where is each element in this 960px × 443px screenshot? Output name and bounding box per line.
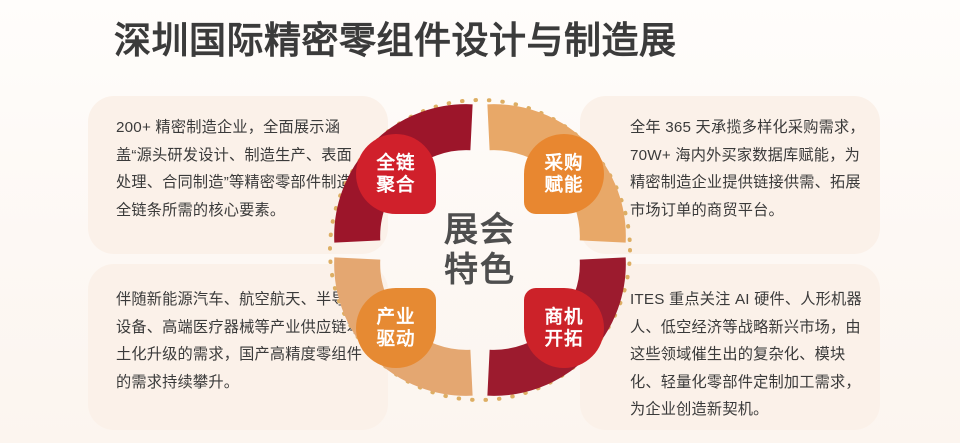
wheel-badge-business-opportunity[interactable]: 商机 开拓: [524, 288, 604, 368]
wheel-badge-procurement-line-1: 采购: [544, 152, 583, 174]
page-title: 深圳国际精密零组件设计与制造展: [114, 16, 677, 66]
wheel-badge-industry-drive[interactable]: 产业 驱动: [356, 288, 436, 368]
exhibition-features-wheel: 展会 特色 全链 聚合 采购 赋能 产业 驱动 商机 开拓: [318, 88, 642, 412]
wheel-badge-full-chain-line-2: 聚合: [376, 174, 415, 196]
info-panel-bottom-right-text: ITES 重点关注 AI 硬件、人形机器人、低空经济等战略新兴市场，由这些领域催…: [630, 286, 870, 424]
info-panel-top-right-text: 全年 365 天承揽多样化采购需求，70W+ 海内外买家数据库赋能，为精密制造企…: [630, 114, 868, 224]
infographic-canvas: 深圳国际精密零组件设计与制造展 200+ 精密制造企业，全面展示涵盖“源头研发设…: [0, 0, 960, 443]
wheel-badge-business-opportunity-line-2: 开拓: [544, 328, 583, 350]
wheel-graphic: [318, 88, 642, 412]
wheel-badge-full-chain-line-1: 全链: [376, 152, 415, 174]
wheel-badge-industry-drive-line-1: 产业: [376, 306, 415, 328]
wheel-badge-industry-drive-line-2: 驱动: [376, 328, 415, 350]
wheel-badge-procurement-line-2: 赋能: [544, 174, 583, 196]
wheel-badge-procurement[interactable]: 采购 赋能: [524, 134, 604, 214]
wheel-badge-business-opportunity-line-1: 商机: [544, 306, 583, 328]
wheel-badge-full-chain[interactable]: 全链 聚合: [356, 134, 436, 214]
